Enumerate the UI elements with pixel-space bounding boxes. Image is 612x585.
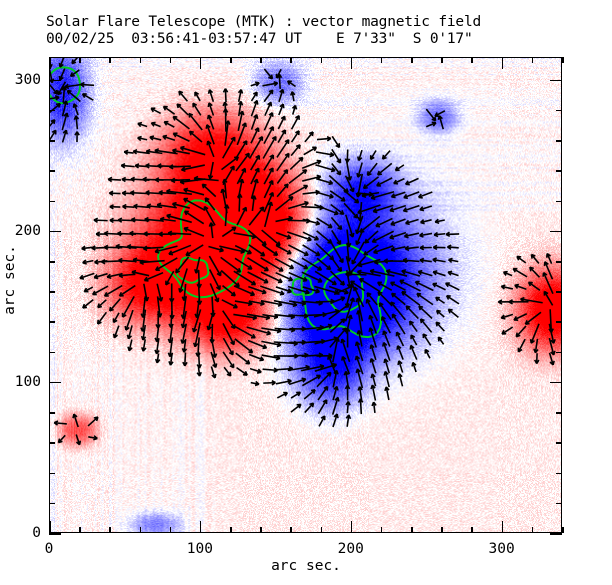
magnetogram-figure: Solar Flare Telescope (MTK) : vector mag… (0, 0, 612, 585)
field-vector-arrow (182, 284, 186, 301)
field-vector-arrow (278, 116, 285, 129)
field-vector-arrow (391, 219, 406, 225)
field-vector-arrow (378, 282, 392, 290)
field-vector-arrow (423, 334, 430, 345)
field-vector-arrow (264, 90, 273, 102)
field-vector-arrow (98, 300, 106, 308)
axis-tick-right (550, 382, 562, 384)
field-vector-arrow (223, 286, 236, 296)
field-vector-arrow (420, 206, 432, 211)
field-vector-arrow (197, 270, 201, 288)
axis-tick-right (556, 352, 562, 354)
field-vector-arrow (156, 354, 160, 363)
field-vector-arrow (120, 286, 136, 296)
field-vector-arrow (404, 192, 419, 198)
field-vector-arrow (94, 218, 108, 222)
field-vector-arrow (50, 120, 55, 128)
axis-tick-left (49, 201, 55, 203)
field-vector-arrow (237, 368, 248, 375)
field-vector-arrow (314, 310, 339, 317)
axis-tick-top (562, 57, 564, 63)
field-vector-arrow (518, 339, 525, 352)
field-vector-arrow (418, 271, 432, 276)
field-vector-arrow (397, 346, 403, 360)
field-vector-arrow (288, 81, 296, 86)
field-vector-arrow (384, 359, 389, 373)
field-vector-arrow (72, 58, 79, 64)
field-vector-arrow (250, 369, 261, 373)
axis-tick-bottom (140, 527, 142, 533)
axis-tick-top (260, 57, 262, 63)
field-vector-arrow (391, 192, 405, 197)
field-vector-arrow (223, 166, 234, 185)
field-vector-arrow (504, 272, 513, 276)
field-vector-arrow (263, 245, 278, 255)
axis-tick-left (49, 110, 55, 112)
field-vector-arrow (276, 246, 291, 254)
axis-tick-top (471, 57, 473, 63)
field-vector-arrow (291, 145, 300, 156)
field-vector-arrow (420, 233, 432, 237)
field-vector-arrow (347, 161, 352, 180)
field-vector-arrow (236, 353, 250, 364)
field-vector-arrow (59, 58, 64, 67)
field-vector-arrow (114, 326, 119, 338)
field-vector-arrow (333, 414, 338, 427)
field-vector-arrow (262, 82, 277, 86)
field-vector-arrow (62, 87, 66, 103)
field-vector-arrow (305, 403, 314, 412)
field-vector-arrow (502, 327, 513, 334)
field-vector-arrow (211, 297, 215, 317)
field-vector-arrow (501, 285, 513, 289)
axis-tick-left (49, 261, 55, 263)
field-vector-arrow (420, 258, 432, 262)
field-vector-arrow (234, 326, 255, 338)
field-vector-arrow (517, 256, 526, 262)
field-vector-arrow (391, 282, 406, 290)
field-vector-arrow (291, 92, 295, 101)
field-vector-arrow (144, 284, 149, 301)
x-tick-label: 200 (338, 541, 364, 557)
field-vector-arrow (547, 254, 552, 264)
axis-tick-top (109, 57, 111, 63)
field-vector-arrow (291, 404, 301, 412)
field-vector-arrow (142, 339, 146, 351)
field-vector-arrow (134, 204, 149, 208)
field-vector-arrow (406, 178, 419, 184)
field-vector-arrow (222, 227, 235, 236)
axis-tick-bottom (532, 527, 534, 533)
field-vector-arrow (549, 309, 553, 332)
field-vector-arrow (358, 150, 362, 160)
field-vector-arrow (251, 381, 259, 385)
field-vector-arrow (419, 306, 432, 318)
field-vector-arrow (144, 273, 163, 281)
axis-tick-right (556, 412, 562, 414)
axis-tick-right (556, 140, 562, 142)
field-vector-arrow (80, 273, 94, 279)
field-vector-arrow (384, 371, 389, 387)
field-vector-arrow (164, 106, 175, 114)
axis-tick-left (49, 412, 55, 414)
field-vector-arrow (132, 271, 149, 276)
field-vector-arrow (535, 353, 539, 363)
field-vector-arrow (108, 177, 121, 181)
field-vector-arrow (525, 312, 541, 324)
field-vector-arrow (290, 158, 303, 170)
field-vector-arrow (202, 184, 215, 196)
field-vector-arrow (292, 131, 299, 142)
axis-tick-bottom (200, 521, 202, 533)
axis-tick-bottom (230, 527, 232, 533)
field-vector-arrow (119, 273, 135, 277)
field-vector-arrow (501, 314, 513, 318)
field-vector-arrow (515, 284, 527, 289)
field-vector-arrow (447, 245, 458, 249)
field-vector-arrow (406, 306, 418, 319)
field-vector-arrow (377, 178, 392, 186)
field-vector-arrow (426, 109, 435, 121)
field-vector-arrow (446, 232, 459, 236)
axis-tick-bottom (502, 521, 504, 533)
field-vector-arrow (109, 191, 120, 195)
axis-tick-left (49, 291, 55, 293)
field-vector-arrow (316, 192, 333, 198)
axis-tick-left (49, 170, 55, 172)
axis-tick-right (556, 170, 562, 172)
field-vector-arrow (234, 271, 256, 284)
field-vector-arrow (303, 219, 320, 225)
field-vector-arrow (249, 207, 263, 225)
field-vector-arrow (411, 335, 417, 345)
field-vector-arrow (448, 271, 458, 275)
field-vector-arrow (370, 359, 375, 374)
field-vector-arrow (58, 435, 65, 442)
field-vector-arrow (194, 177, 219, 181)
field-vector-arrow (249, 355, 263, 361)
field-vector-arrow (71, 70, 80, 76)
field-vector-arrow (76, 435, 80, 445)
field-vector-arrow (291, 392, 300, 398)
vector-field-overlay (50, 58, 561, 532)
field-vector-arrow (371, 374, 375, 386)
field-vector-arrow (314, 204, 338, 214)
field-vector-arrow (166, 271, 174, 285)
field-vector-arrow (391, 247, 405, 251)
field-vector-arrow (179, 91, 187, 101)
field-vector-arrow (252, 92, 257, 101)
field-vector-arrow (304, 147, 317, 154)
axis-tick-right (550, 80, 562, 82)
x-tick-label: 100 (187, 541, 213, 557)
field-vector-arrow (398, 374, 402, 387)
field-vector-arrow (421, 220, 432, 224)
field-vector-arrow (177, 104, 188, 115)
field-vector-arrow (123, 205, 135, 209)
field-vector-arrow (235, 258, 252, 269)
axis-tick-bottom (381, 527, 383, 533)
field-vector-arrow (81, 83, 94, 87)
field-vector-arrow (446, 283, 460, 290)
field-vector-arrow (83, 94, 94, 100)
field-vector-arrow (316, 354, 332, 358)
field-vector-arrow (292, 105, 296, 114)
field-vector-arrow (65, 84, 81, 88)
axis-tick-top (381, 57, 383, 63)
field-vector-arrow (365, 231, 378, 243)
axis-tick-left (49, 442, 55, 444)
field-vector-arrow (197, 367, 201, 376)
field-vector-arrow (410, 345, 416, 359)
axis-tick-top (321, 57, 323, 63)
field-vector-arrow (316, 243, 333, 259)
field-vector-arrow (346, 415, 350, 427)
field-vector-arrow (347, 229, 351, 247)
field-vector-arrow (410, 321, 417, 331)
axis-tick-top (200, 57, 202, 69)
field-vector-arrow (371, 151, 376, 160)
field-vector-arrow (287, 232, 311, 241)
x-tick-label: 300 (489, 541, 515, 557)
axis-tick-bottom (49, 521, 51, 533)
field-vector-arrow (50, 82, 57, 94)
axis-tick-right (556, 321, 562, 323)
axis-tick-bottom (109, 527, 111, 533)
y-tick-label: 100 (0, 374, 41, 390)
axis-tick-bottom (441, 527, 443, 533)
field-vector-arrow (83, 260, 94, 264)
field-vector-arrow (395, 165, 403, 171)
field-vector-arrow (50, 96, 59, 100)
axis-tick-right (556, 110, 562, 112)
field-vector-arrow (277, 184, 288, 197)
field-vector-arrow (396, 332, 403, 346)
field-vector-arrow (173, 133, 189, 141)
axis-tick-bottom (471, 527, 473, 533)
field-vector-arrow (263, 368, 278, 372)
field-vector-arrow (54, 421, 67, 425)
x-axis-title: arc sec. (0, 558, 612, 574)
figure-title-line-1: Solar Flare Telescope (MTK) : vector mag… (0, 14, 612, 31)
field-vector-arrow (223, 137, 235, 158)
field-vector-arrow (278, 130, 285, 143)
field-vector-arrow (315, 165, 335, 172)
axis-tick-top (351, 57, 353, 69)
field-vector-arrow (170, 283, 174, 301)
field-vector-arrow (330, 319, 344, 332)
field-vector-arrow (383, 151, 390, 159)
field-vector-arrow (405, 246, 419, 250)
field-vector-arrow (156, 258, 178, 270)
axis-tick-top (79, 57, 81, 63)
field-vector-arrow (302, 175, 321, 181)
field-vector-arrow (433, 245, 445, 249)
field-vector-arrow (277, 392, 287, 397)
field-vector-arrow (419, 192, 433, 198)
field-vector-arrow (406, 220, 419, 225)
field-vector-arrow (73, 104, 78, 115)
field-vector-arrow (110, 299, 121, 311)
figure-title-block: Solar Flare Telescope (MTK) : vector mag… (0, 14, 612, 48)
axis-tick-right (550, 231, 562, 233)
plot-area (49, 57, 562, 533)
field-vector-arrow (412, 362, 416, 372)
field-vector-arrow (184, 199, 204, 210)
axis-tick-top (170, 57, 172, 63)
field-vector-arrow (151, 108, 161, 113)
field-vector-arrow (358, 387, 362, 400)
axis-tick-top (140, 57, 142, 63)
field-vector-arrow (378, 163, 392, 174)
field-vector-arrow (183, 352, 187, 365)
field-vector-arrow (190, 131, 202, 142)
field-vector-arrow (433, 283, 446, 289)
axis-tick-top (230, 57, 232, 63)
field-vector-arrow (531, 254, 538, 263)
axis-tick-right (556, 473, 562, 475)
field-vector-arrow (209, 223, 213, 238)
field-vector-arrow (279, 89, 284, 102)
field-vector-arrow (223, 89, 227, 103)
field-vector-arrow (436, 322, 444, 331)
field-vector-arrow (209, 90, 214, 102)
field-vector-arrow (163, 135, 175, 140)
axis-tick-bottom (79, 527, 81, 533)
field-vector-arrow (371, 385, 375, 401)
field-vector-arrow (435, 219, 445, 223)
axis-tick-bottom (321, 527, 323, 533)
field-vector-arrow (332, 230, 341, 244)
field-vector-arrow (276, 379, 291, 383)
field-vector-arrow (168, 231, 191, 235)
field-vector-arrow (75, 132, 79, 142)
field-vector-arrow (403, 258, 419, 262)
field-vector-arrow (345, 150, 349, 163)
field-vector-arrow (438, 116, 443, 129)
axis-tick-top (441, 57, 443, 63)
field-vector-arrow (447, 296, 459, 304)
field-vector-arrow (448, 309, 458, 317)
field-vector-arrow (151, 122, 160, 126)
axis-tick-bottom (260, 527, 262, 533)
field-vector-arrow (426, 122, 436, 126)
field-vector-arrow (425, 349, 430, 358)
field-vector-arrow (59, 69, 64, 81)
field-vector-arrow (318, 400, 326, 414)
y-tick-label: 300 (0, 72, 41, 88)
field-vector-arrow (420, 246, 432, 250)
field-vector-arrow (368, 163, 378, 175)
field-vector-arrow (224, 367, 231, 376)
field-vector-arrow (370, 345, 376, 360)
axis-tick-bottom (562, 527, 564, 533)
field-vector-arrow (331, 217, 341, 229)
field-vector-arrow (264, 69, 272, 79)
field-vector-arrow (63, 130, 68, 142)
field-vector-arrow (251, 101, 257, 117)
axis-tick-left (49, 231, 61, 233)
field-vector-arrow (94, 274, 107, 279)
axis-tick-right (556, 291, 562, 293)
y-axis-title: arc sec. (2, 230, 18, 330)
field-vector-arrow (292, 116, 300, 130)
field-vector-arrow (207, 141, 214, 157)
field-vector-arrow (277, 170, 287, 184)
field-vector-arrow (138, 123, 147, 127)
field-vector-arrow (346, 401, 350, 413)
field-vector-arrow (372, 402, 376, 413)
field-vector-arrow (74, 116, 78, 129)
field-vector-arrow (195, 92, 200, 101)
field-vector-arrow (121, 164, 134, 168)
axis-tick-right (556, 442, 562, 444)
axis-tick-top (49, 57, 51, 69)
field-vector-arrow (449, 258, 459, 262)
field-vector-arrow (544, 291, 552, 305)
field-vector-arrow (394, 179, 405, 184)
field-vector-arrow (211, 366, 215, 377)
field-vector-arrow (319, 416, 325, 426)
field-vector-arrow (124, 150, 133, 154)
field-vector-arrow (222, 157, 239, 170)
field-vector-arrow (110, 205, 120, 209)
field-vector-arrow (433, 258, 446, 262)
field-vector-arrow (513, 269, 527, 277)
field-vector-arrow (316, 152, 334, 157)
axis-tick-left (49, 80, 61, 82)
field-vector-arrow (289, 186, 308, 197)
field-vector-arrow (114, 313, 119, 323)
axis-tick-bottom (170, 527, 172, 533)
field-vector-arrow (73, 414, 78, 427)
field-vector-arrow (164, 122, 174, 127)
axis-tick-left (49, 382, 61, 384)
field-vector-arrow (385, 387, 389, 400)
field-vector-arrow (359, 399, 363, 414)
field-vector-arrow (276, 233, 291, 239)
field-vector-arrow (150, 136, 161, 140)
field-vector-arrow (263, 381, 275, 385)
field-vector-arrow (84, 287, 93, 292)
field-vector-arrow (209, 162, 214, 179)
field-vector-arrow (252, 115, 258, 130)
field-vector-arrow (180, 147, 205, 155)
field-vector-arrow (265, 202, 273, 227)
field-vector-arrow (317, 372, 331, 386)
field-vector-arrow (140, 260, 165, 264)
x-tick-label: 0 (45, 541, 54, 557)
axis-tick-top (290, 57, 292, 63)
field-vector-arrow (382, 317, 390, 334)
field-vector-arrow (88, 436, 97, 440)
field-vector-arrow (332, 136, 339, 147)
field-vector-arrow (436, 297, 445, 303)
axis-tick-bottom (290, 527, 292, 533)
axis-tick-left (49, 473, 55, 475)
field-vector-arrow (317, 137, 331, 141)
field-vector-arrow (345, 385, 349, 400)
field-vector-arrow (376, 219, 393, 227)
field-vector-arrow (317, 231, 332, 243)
axis-tick-right (556, 503, 562, 505)
axis-tick-right (556, 201, 562, 203)
field-vector-arrow (250, 137, 263, 159)
field-vector-arrow (417, 294, 433, 305)
figure-title-line-2: 00/02/25 03:56:41-03:57:47 UT E 7'33" S … (0, 31, 612, 48)
field-vector-arrow (173, 117, 189, 129)
field-vector-arrow (516, 326, 526, 337)
